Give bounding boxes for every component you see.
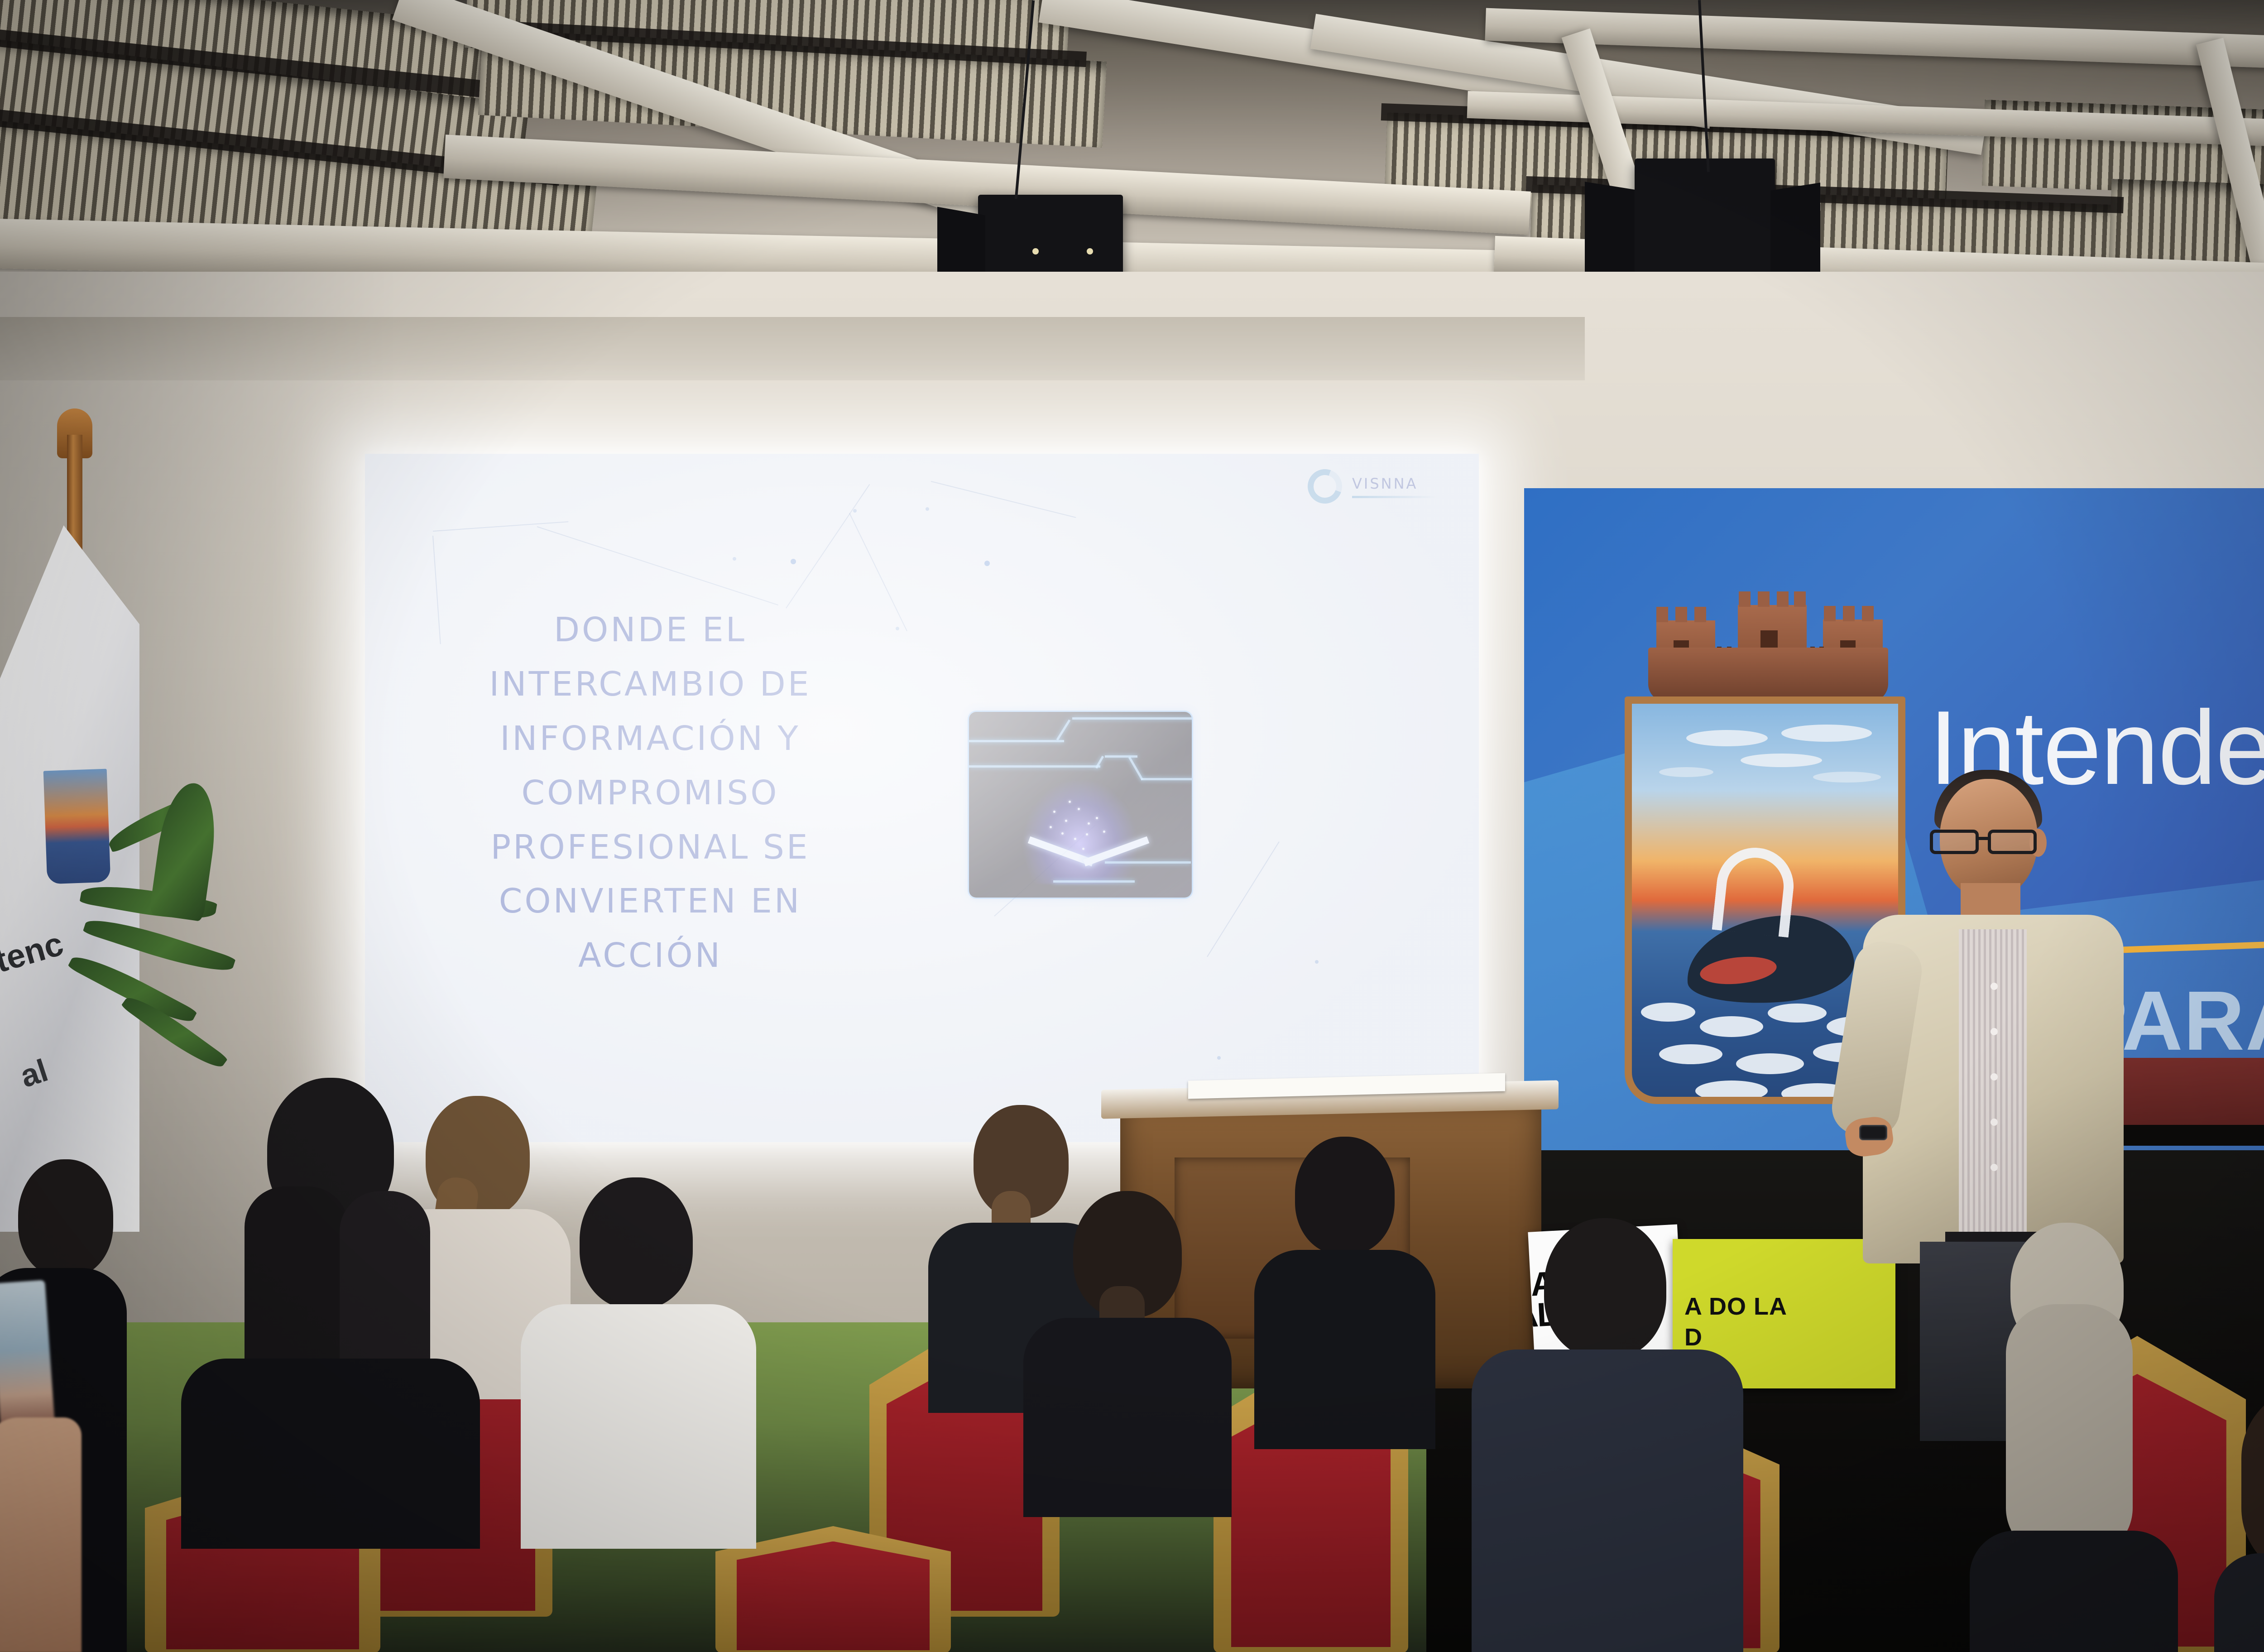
slide-line-2: INTERCAMBIO DE xyxy=(419,658,881,712)
attendee xyxy=(1476,1218,1730,1652)
hand xyxy=(0,1417,82,1652)
slide-logo-name: VISNNA xyxy=(1352,475,1437,492)
projection-screen: VISNNA DONDE EL INTERCAMBIO DE INFORMACI… xyxy=(365,454,1479,1142)
eyeglasses-icon xyxy=(1930,830,2048,856)
slide-line-5: PROFESIONAL SE xyxy=(419,821,881,875)
attendee xyxy=(1961,1223,2178,1652)
attendee xyxy=(190,1078,471,1531)
whale-spout xyxy=(1712,844,1798,938)
slide-logo: VISNNA xyxy=(1308,469,1437,504)
attendee xyxy=(2201,1300,2264,1652)
slide-line-3: INFORMACIÓN Y xyxy=(419,712,881,766)
conference-hall-photo: VISNNA DONDE EL INTERCAMBIO DE INFORMACI… xyxy=(0,0,2264,1652)
slide-logo-bar xyxy=(1352,496,1437,498)
mural-crown-icon xyxy=(1648,597,1888,710)
ring-icon xyxy=(1302,464,1348,509)
attendee xyxy=(521,1177,756,1540)
slide-line-7: ACCIÓN xyxy=(419,929,881,983)
slide-line-4: COMPROMISO xyxy=(419,766,881,821)
presentation-clicker-icon xyxy=(1859,1125,1887,1140)
slide-line-1: DONDE EL xyxy=(419,603,881,658)
attendee xyxy=(1023,1191,1232,1490)
slide-line-6: CONVIERTEN EN xyxy=(419,874,881,929)
slide-body-text: DONDE EL INTERCAMBIO DE INFORMACIÓN Y CO… xyxy=(419,603,881,983)
attendee xyxy=(1250,1137,1440,1417)
slide-graphic xyxy=(969,712,1192,898)
